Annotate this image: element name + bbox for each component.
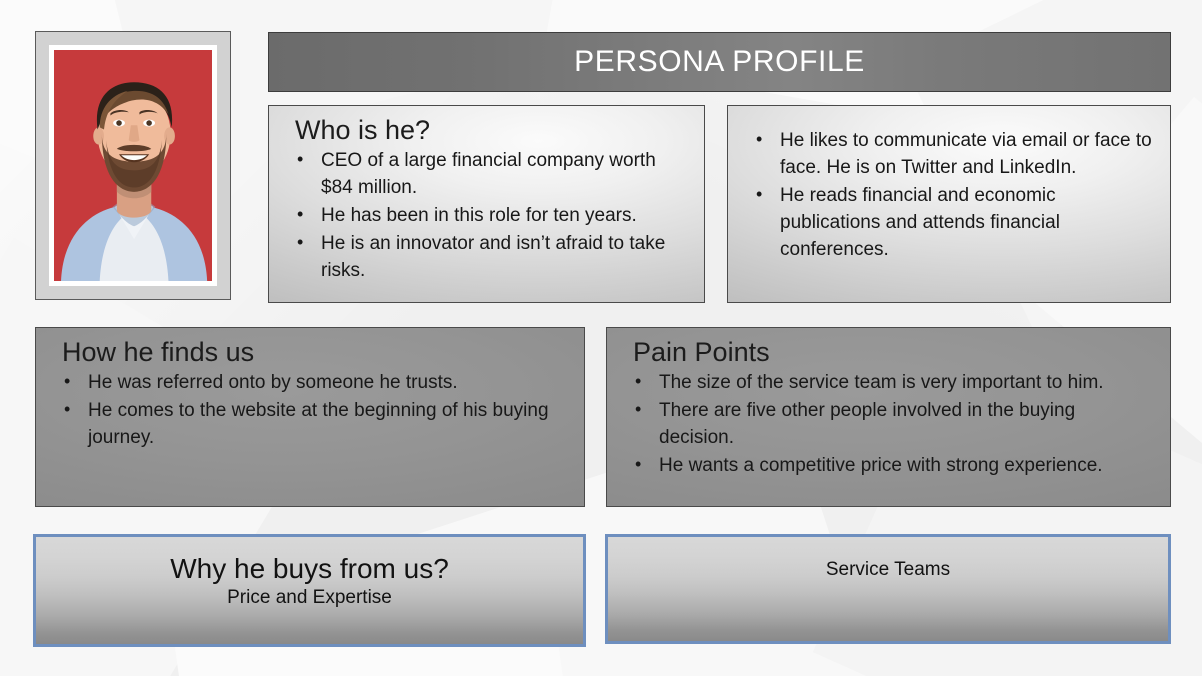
list-item: CEO of a large financial company worth $… <box>291 148 688 202</box>
communication-bullet-list: He likes to communicate via email or fac… <box>750 128 1154 264</box>
list-item: There are five other people involved in … <box>629 398 1154 452</box>
slide-title-banner: PERSONA PROFILE <box>268 32 1171 92</box>
who-is-he-heading: Who is he? <box>295 116 688 146</box>
communication-panel: He likes to communicate via email or fac… <box>727 105 1171 303</box>
persona-portrait-photo <box>54 50 212 281</box>
how-he-finds-us-panel: How he finds us He was referred onto by … <box>35 327 585 507</box>
how-he-finds-us-bullet-list: He was referred onto by someone he trust… <box>58 370 568 452</box>
service-teams-panel: Service Teams <box>605 534 1171 644</box>
who-is-he-panel: Who is he? CEO of a large financial comp… <box>268 105 705 303</box>
list-item: The size of the service team is very imp… <box>629 370 1154 397</box>
photo-mat <box>49 45 217 286</box>
list-item: He comes to the website at the beginning… <box>58 398 568 452</box>
list-item: He likes to communicate via email or fac… <box>750 128 1154 182</box>
list-item: He was referred onto by someone he trust… <box>58 370 568 397</box>
list-item: He is an innovator and isn’t afraid to t… <box>291 231 688 285</box>
why-he-buys-subtitle: Price and Expertise <box>227 587 392 609</box>
pain-points-panel: Pain Points The size of the service team… <box>606 327 1171 507</box>
why-he-buys-title: Why he buys from us? <box>170 553 449 585</box>
persona-profile-slide: PERSONA PROFILE Who is he? CEO of a larg… <box>0 0 1202 676</box>
list-item: He has been in this role for ten years. <box>291 203 688 230</box>
persona-photo-frame <box>35 31 231 300</box>
pain-points-bullet-list: The size of the service team is very imp… <box>629 370 1154 480</box>
page-title: PERSONA PROFILE <box>574 45 865 79</box>
list-item: He reads financial and economic publicat… <box>750 183 1154 264</box>
how-he-finds-us-heading: How he finds us <box>62 338 568 368</box>
service-teams-title: Service Teams <box>826 559 950 581</box>
why-he-buys-panel: Why he buys from us? Price and Expertise <box>33 534 586 647</box>
list-item: He wants a competitive price with strong… <box>629 453 1154 480</box>
pain-points-heading: Pain Points <box>633 338 1154 368</box>
who-is-he-bullet-list: CEO of a large financial company worth $… <box>291 148 688 285</box>
